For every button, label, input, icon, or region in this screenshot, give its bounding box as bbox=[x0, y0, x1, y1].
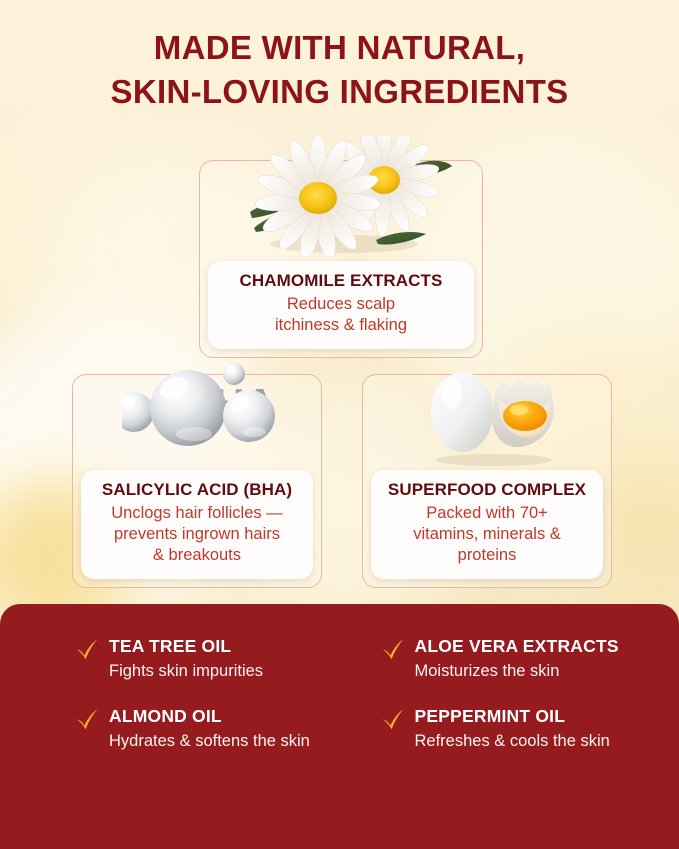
check-icon bbox=[74, 637, 100, 663]
benefit-item-aloe-vera-extracts: ALOE VERA EXTRACTS Moisturizes the skin bbox=[340, 636, 679, 682]
benefit-item-tea-tree-oil: TEA TREE OIL Fights skin impurities bbox=[0, 636, 340, 682]
benefits-panel: TEA TREE OIL Fights skin impurities ALOE… bbox=[0, 604, 679, 849]
benefit-description: Moisturizes the skin bbox=[415, 661, 630, 682]
ingredient-card-salicylic-acid: SALICYLIC ACID (BHA) Unclogs hair follic… bbox=[72, 374, 322, 588]
card-title: CHAMOMILE EXTRACTS bbox=[216, 271, 466, 291]
card-description-line: & breakouts bbox=[89, 545, 305, 566]
card-title: SALICYLIC ACID (BHA) bbox=[89, 480, 305, 500]
card-title: SUPERFOOD COMPLEX bbox=[379, 480, 595, 500]
card-description-line: itchiness & flaking bbox=[216, 315, 466, 336]
check-icon bbox=[74, 707, 100, 733]
benefit-item-almond-oil: ALMOND OIL Hydrates & softens the skin bbox=[0, 706, 340, 752]
card-description-line: Reduces scalp bbox=[216, 294, 466, 315]
benefits-grid: TEA TREE OIL Fights skin impurities ALOE… bbox=[0, 636, 679, 752]
benefit-title: TEA TREE OIL bbox=[109, 636, 340, 657]
card-textbox: SALICYLIC ACID (BHA) Unclogs hair follic… bbox=[81, 470, 313, 579]
benefit-description: Fights skin impurities bbox=[109, 661, 324, 682]
card-description-line: proteins bbox=[379, 545, 595, 566]
card-description: Reduces scalp itchiness & flaking bbox=[216, 294, 466, 336]
card-description-line: prevents ingrown hairs bbox=[89, 524, 305, 545]
infographic-page: MADE WITH NATURAL, SKIN-LOVING INGREDIEN… bbox=[0, 0, 679, 849]
benefit-title: ALOE VERA EXTRACTS bbox=[415, 636, 679, 657]
card-description-line: Unclogs hair follicles — bbox=[89, 503, 305, 524]
ingredient-card-superfood-complex: SUPERFOOD COMPLEX Packed with 70+ vitami… bbox=[362, 374, 612, 588]
ingredient-card-chamomile: CHAMOMILE EXTRACTS Reduces scalp itchine… bbox=[199, 160, 483, 358]
card-description-line: vitamins, minerals & bbox=[379, 524, 595, 545]
card-description: Packed with 70+ vitamins, minerals & pro… bbox=[379, 503, 595, 566]
card-textbox: SUPERFOOD COMPLEX Packed with 70+ vitami… bbox=[371, 470, 603, 579]
benefit-description: Refreshes & cools the skin bbox=[415, 731, 630, 752]
page-title-line-1: MADE WITH NATURAL, bbox=[0, 26, 679, 70]
benefit-title: PEPPERMINT OIL bbox=[415, 706, 679, 727]
check-icon bbox=[380, 707, 406, 733]
check-icon bbox=[380, 637, 406, 663]
card-description: Unclogs hair follicles — prevents ingrow… bbox=[89, 503, 305, 566]
card-description-line: Packed with 70+ bbox=[379, 503, 595, 524]
page-title-line-2: SKIN-LOVING INGREDIENTS bbox=[0, 70, 679, 114]
benefit-description: Hydrates & softens the skin bbox=[109, 731, 324, 752]
page-title: MADE WITH NATURAL, SKIN-LOVING INGREDIEN… bbox=[0, 26, 679, 114]
benefit-title: ALMOND OIL bbox=[109, 706, 340, 727]
card-textbox: CHAMOMILE EXTRACTS Reduces scalp itchine… bbox=[208, 261, 474, 349]
benefit-item-peppermint-oil: PEPPERMINT OIL Refreshes & cools the ski… bbox=[340, 706, 679, 752]
